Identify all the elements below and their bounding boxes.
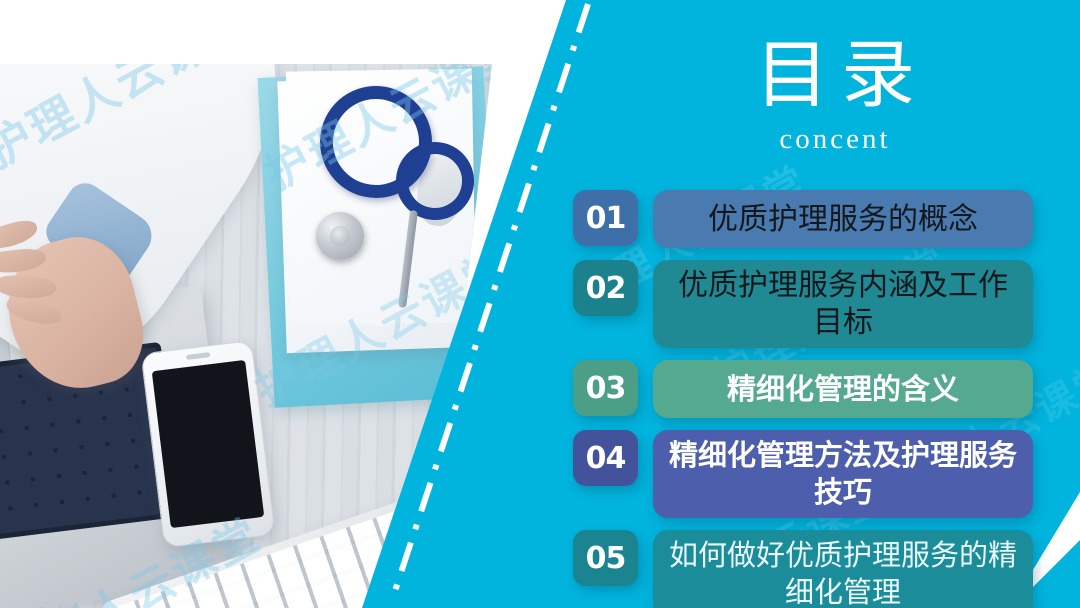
toc-number-badge[interactable]: 05 [573,530,638,586]
toc-item-label: 优质护理服务内涵及工作目标 [669,267,1017,341]
toc-item-label: 如何做好优质护理服务的精细化管理 [669,537,1017,608]
page-subtitle: concent [600,122,1070,156]
smartphone [140,340,275,548]
toc-item-label: 精细化管理的含义 [727,371,959,408]
toc-item-bar[interactable]: 优质护理服务的概念 [653,190,1033,248]
toc-item-bar[interactable]: 优质护理服务内涵及工作目标 [653,260,1033,348]
toc-number-label: 02 [586,271,626,306]
toc-number-badge[interactable]: 02 [573,260,638,316]
toc-item-label: 优质护理服务的概念 [708,201,978,238]
toc-number-label: 04 [586,441,626,476]
slide-canvas: 护理人云课堂 护理人云课堂 护理人云课堂 护理人云课堂 护理人云课堂 护理人云课… [0,0,1080,608]
toc-item-bar[interactable]: 如何做好优质护理服务的精细化管理 [653,530,1033,608]
table-of-contents: 01优质护理服务的概念02优质护理服务内涵及工作目标03精细化管理的含义04精细… [573,190,1033,608]
toc-number-badge[interactable]: 01 [573,190,638,246]
slide-header: 目录 concent [600,34,1070,156]
toc-number-label: 03 [586,371,626,406]
toc-number-badge[interactable]: 03 [573,360,638,416]
toc-row[interactable]: 05如何做好优质护理服务的精细化管理 [573,530,1033,608]
page-title: 目录 [600,34,1070,118]
toc-row[interactable]: 01优质护理服务的概念 [573,190,1033,248]
toc-number-label: 01 [586,201,626,236]
toc-row[interactable]: 02优质护理服务内涵及工作目标 [573,260,1033,348]
toc-row[interactable]: 03精细化管理的含义 [573,360,1033,418]
toc-number-badge[interactable]: 04 [573,430,638,486]
toc-row[interactable]: 04精细化管理方法及护理服务技巧 [573,430,1033,518]
toc-item-label: 精细化管理方法及护理服务技巧 [669,437,1017,511]
toc-number-label: 05 [586,541,626,576]
toc-item-bar[interactable]: 精细化管理的含义 [653,360,1033,418]
stethoscope-chestpiece [316,212,364,260]
toc-item-bar[interactable]: 精细化管理方法及护理服务技巧 [653,430,1033,518]
